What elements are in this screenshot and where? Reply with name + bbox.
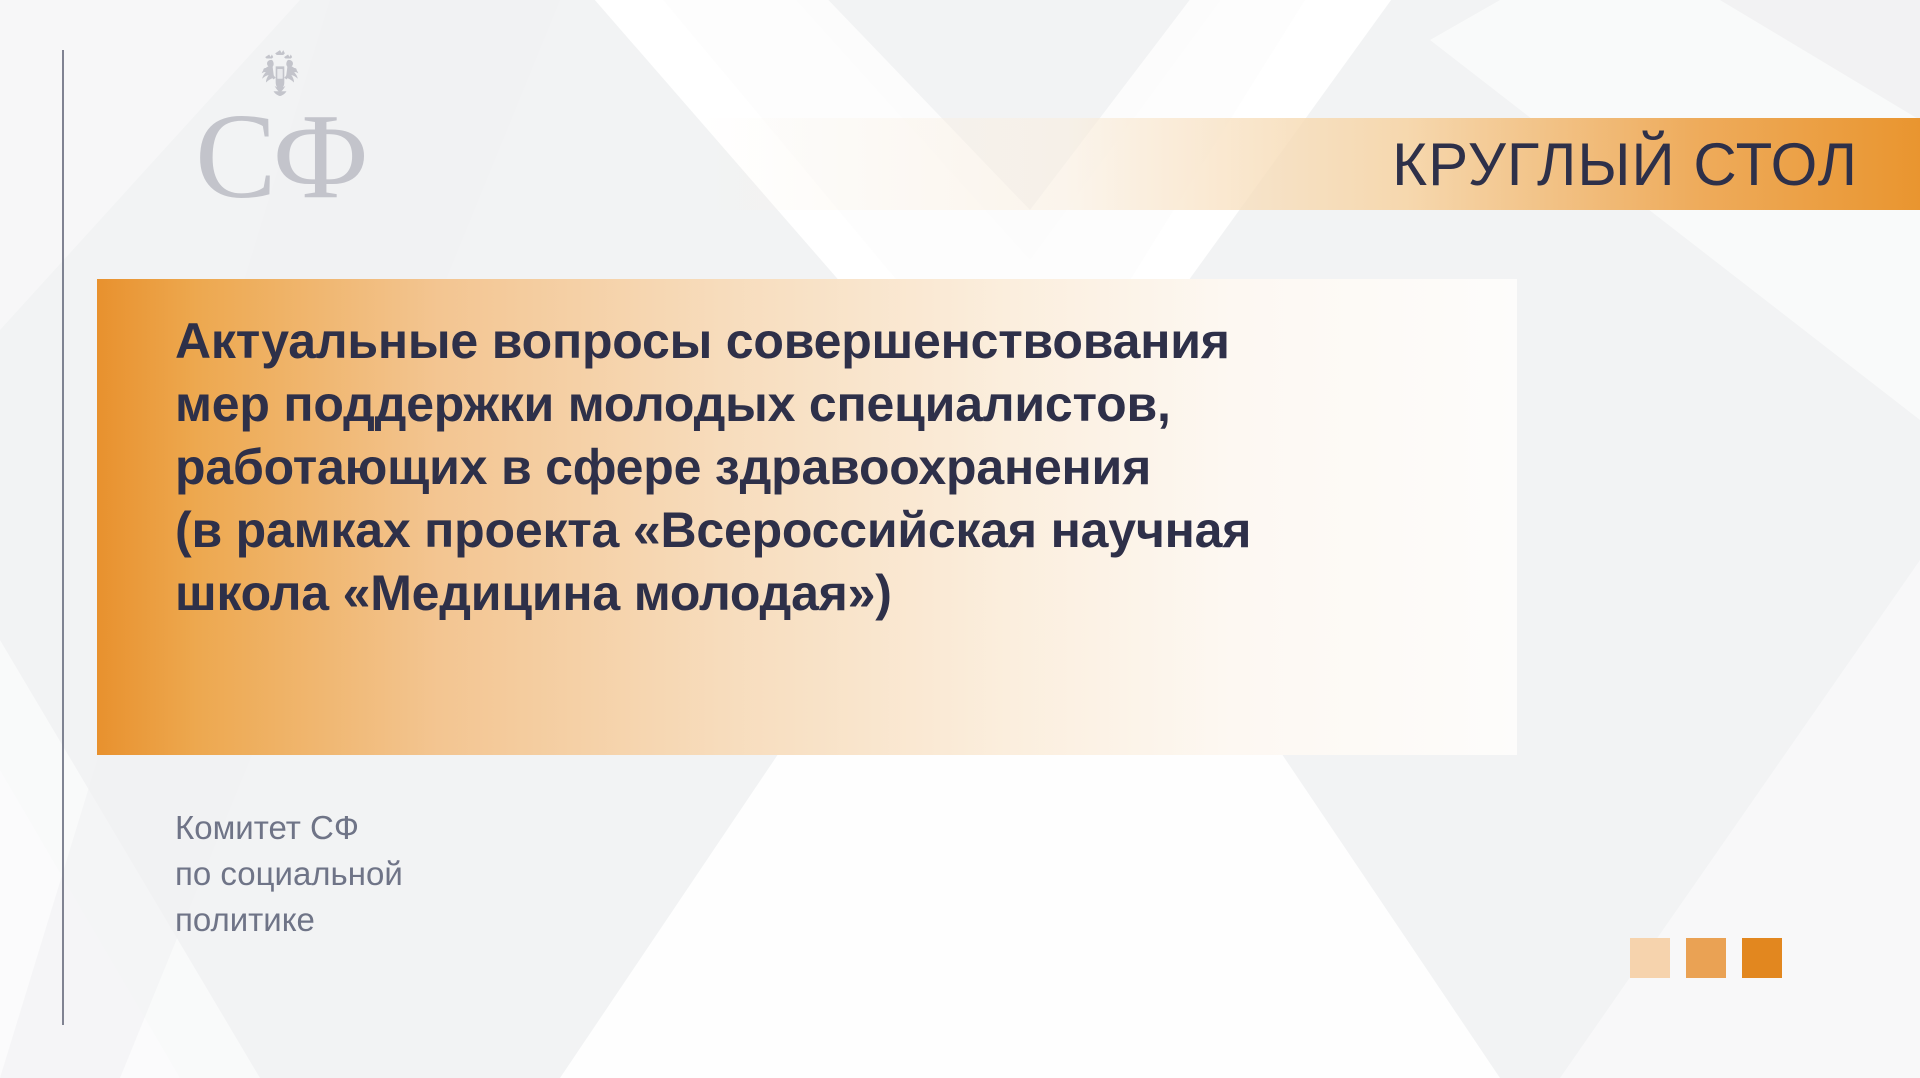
- committee-line-3: политике: [175, 897, 695, 943]
- title-line-5: школа «Медицина молодая»): [175, 562, 1495, 625]
- square-medium: [1686, 938, 1726, 978]
- committee-line-1: Комитет СФ: [175, 805, 695, 851]
- left-vertical-divider: [62, 50, 64, 1025]
- square-light: [1630, 938, 1670, 978]
- event-type-label: КРУГЛЫЙ СТОЛ: [700, 118, 1900, 210]
- page-title: Актуальные вопросы совершенствования мер…: [175, 310, 1495, 625]
- committee-subtitle: Комитет СФ по социальной политике: [175, 805, 695, 943]
- sf-emblem-logo: СФ: [175, 48, 385, 218]
- square-dark: [1742, 938, 1782, 978]
- title-slide: СФ КРУГЛЫЙ СТОЛ Актуальные вопросы совер…: [0, 0, 1920, 1078]
- title-line-1: Актуальные вопросы совершенствования: [175, 310, 1495, 373]
- committee-line-2: по социальной: [175, 851, 695, 897]
- sf-logo-letters: СФ: [195, 96, 365, 218]
- title-line-3: работающих в сфере здравоохранения: [175, 436, 1495, 499]
- title-line-2: мер поддержки молодых специалистов,: [175, 373, 1495, 436]
- decor-squares: [1630, 938, 1782, 978]
- title-line-4: (в рамках проекта «Всероссийская научная: [175, 499, 1495, 562]
